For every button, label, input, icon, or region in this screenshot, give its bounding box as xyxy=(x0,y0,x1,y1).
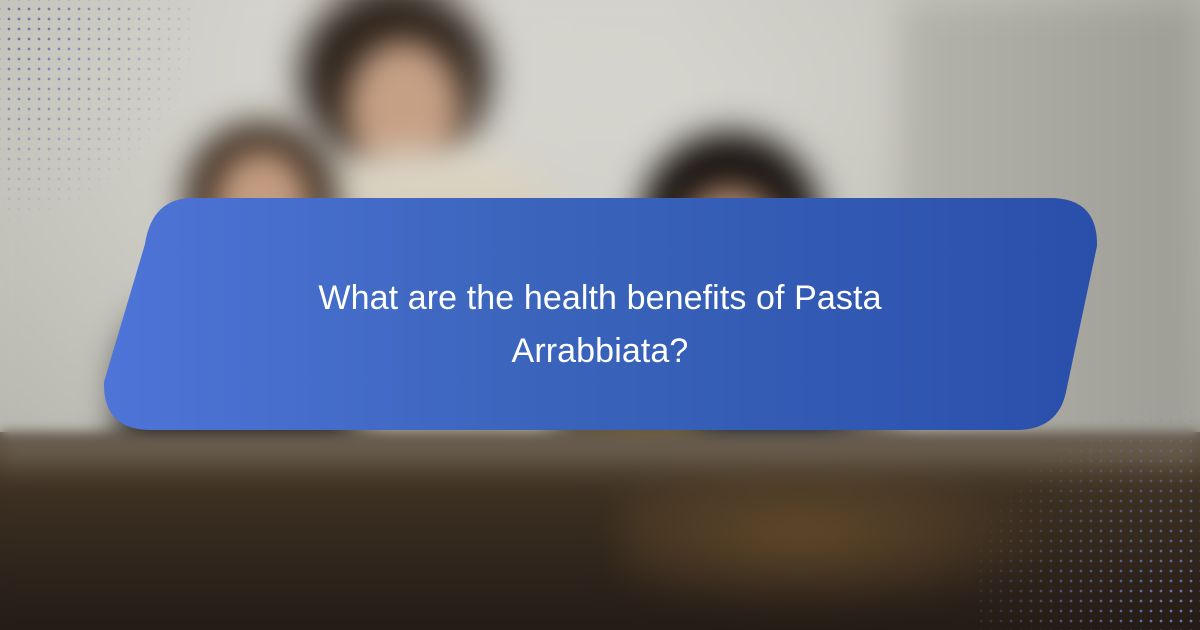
question-text: What are the health benefits of Pasta Ar… xyxy=(230,272,970,377)
question-card-graphic: What are the health benefits of Pasta Ar… xyxy=(0,0,1200,630)
